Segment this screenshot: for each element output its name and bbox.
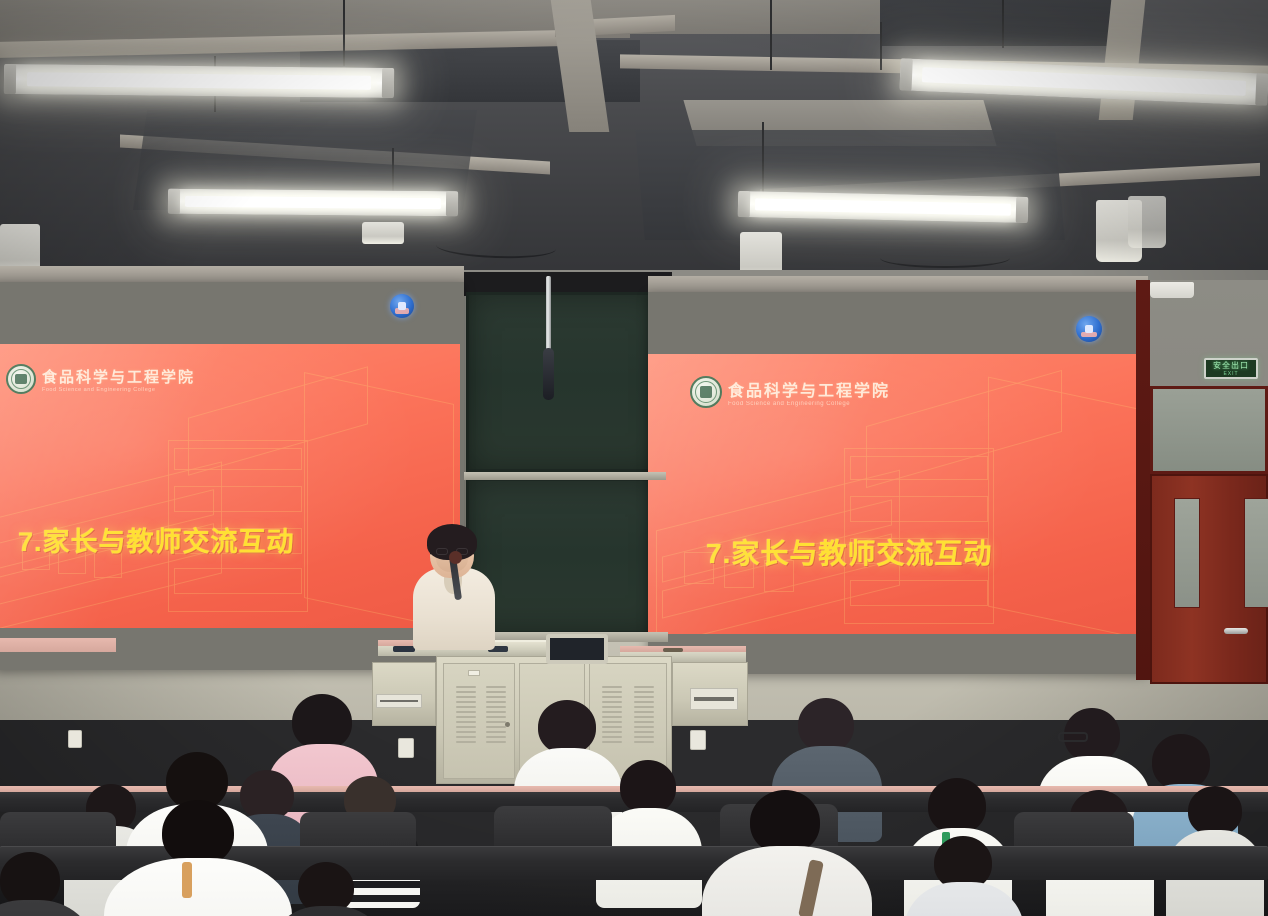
lanyard [182,862,192,898]
equipment-panel [690,688,738,710]
lecture-hall-photo: 食品科学与工程学院 Food Science and Engineering C… [0,0,1268,916]
air-conditioner-unit [1150,282,1194,298]
lectern-edge-right [620,646,746,652]
ceiling-cable [436,234,557,260]
lectern-vent [456,686,476,746]
can-light [362,222,404,244]
ceiling-light-tube [168,189,458,217]
door-handle[interactable] [1224,628,1248,634]
side-desk-edge [0,638,116,652]
lectern-vent [602,686,622,746]
lectern-vent [486,686,506,746]
slide-school-name-cn: 食品科学与工程学院 [728,377,890,401]
desk-item-pointer [663,648,683,652]
left-projection-screen[interactable]: 食品科学与工程学院 Food Science and Engineering C… [0,344,460,628]
right-projection-screen[interactable]: 食品科学与工程学院 Food Science and Engineering C… [648,354,1148,634]
left-screen-frame: 食品科学与工程学院 Food Science and Engineering C… [0,282,464,670]
equipment-panel [376,694,422,708]
slide-school-logo: 食品科学与工程学院 Food Science and Engineering C… [6,364,195,394]
exit-sign-label-cn: 安全出口 [1213,360,1249,371]
eyeglasses-icon [1058,732,1088,742]
hanging-microphone-rod [546,276,551,354]
hanging-microphone [543,348,554,400]
microphone-head [449,551,462,564]
university-emblem-badge [390,294,414,318]
light-suspension-rod [762,122,764,196]
slide-school-logo: 食品科学与工程学院 Food Science and Engineering C… [690,376,890,408]
lectern-monitor[interactable] [546,634,608,664]
entry-door[interactable] [1150,474,1268,684]
door-frame [1136,280,1150,680]
chalkboard-upper [466,292,664,472]
light-suspension-rod [770,0,772,70]
university-emblem-badge [1076,316,1102,342]
exit-sign: 安全出口 EXIT [1204,358,1258,379]
chalkboard-lower [466,478,664,634]
school-crest-icon [690,376,722,408]
wall-outlet [398,738,414,758]
light-suspension-rod [343,0,345,66]
ceiling-light-tube [4,64,394,98]
light-suspension-rod [392,148,394,192]
door-transom-window [1150,386,1268,474]
wall-outlet [68,730,82,748]
ceiling-cable [880,248,1010,268]
lectern-label [468,670,480,676]
door-window-pane [1244,498,1268,608]
light-suspension-rod [880,22,882,70]
lectern-vent [634,686,654,746]
ceiling [0,0,1268,300]
lectern-lock[interactable] [505,722,510,727]
school-crest-icon [6,364,36,394]
slide-school-name-cn: 食品科学与工程学院 [42,366,195,387]
ceiling-slab-dark [635,130,1065,240]
lectern-panel [443,663,515,779]
desk-item-notebook [393,646,415,652]
slide-school-name-en: Food Science and Engineering College [42,387,195,393]
slide-title: 7.家长与教师交流互动 [706,532,992,572]
can-light [1128,196,1166,248]
slide-school-name-en: Food Science and Engineering College [728,401,890,407]
chalkboard-divider [464,472,666,480]
wall-outlet [690,730,706,750]
door-window-pane [1174,498,1200,608]
right-screen-frame: 食品科学与工程学院 Food Science and Engineering C… [648,292,1148,674]
slide-title: 7.家长与教师交流互动 [18,520,295,559]
light-suspension-rod [1002,0,1004,48]
ceiling-slab-dark [880,0,1120,46]
exit-sign-label-en: EXIT [1223,371,1238,377]
